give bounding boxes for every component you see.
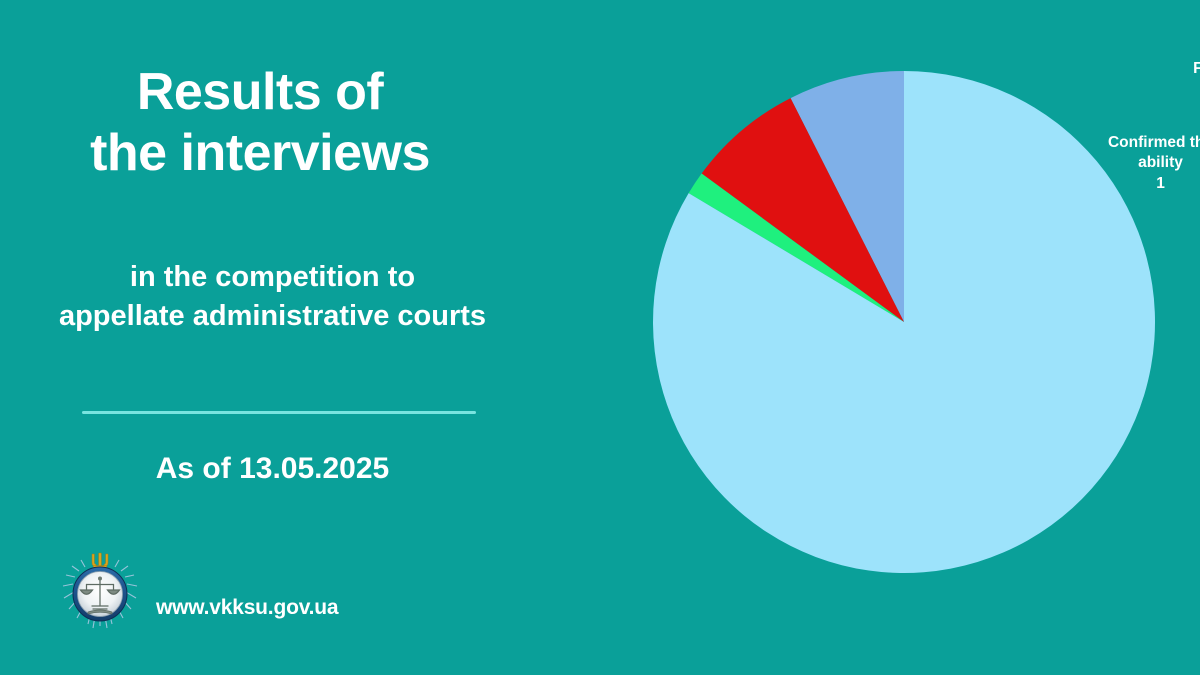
divider-rule <box>82 411 476 414</box>
pie-label-failed: Failed to confirm the ability 5 <box>1178 59 1200 120</box>
pie-slice-group <box>653 71 1155 573</box>
left-text-panel: Results of the interviews in the competi… <box>0 0 560 675</box>
as-of-date: As of 13.05.2025 <box>0 452 545 486</box>
pie-label-confirmed: Confirmed the ability 1 <box>1083 133 1200 194</box>
page-title: Results of the interviews <box>0 62 520 184</box>
pie-label-confirmed-line-2: ability <box>1083 153 1200 173</box>
pie-label-failed-line-2: the ability <box>1178 79 1200 99</box>
pie-label-confirmed-value: 1 <box>1083 174 1200 194</box>
title-line-1: Results of <box>0 62 520 123</box>
subtitle-line-2: appellate administrative courts <box>0 297 545 336</box>
pie-label-confirmed-line-1: Confirmed the <box>1083 133 1200 153</box>
pie-label-failed-value: 5 <box>1178 100 1200 120</box>
pie-label-failed-line-1: Failed to confirm <box>1178 59 1200 79</box>
slide-canvas: Results of the interviews in the competi… <box>0 0 1200 675</box>
pie-chart-svg <box>560 0 1200 675</box>
page-subtitle: in the competition to appellate administ… <box>0 258 545 336</box>
subtitle-line-1: in the competition to <box>0 258 545 297</box>
pie-chart: Submitted to consideration in plenary se… <box>560 0 1200 675</box>
footer-branding: www.vkksu.gov.ua <box>62 550 338 632</box>
title-line-2: the interviews <box>0 123 520 184</box>
vkksu-emblem-icon <box>62 550 138 632</box>
website-url[interactable]: www.vkksu.gov.ua <box>156 562 338 620</box>
